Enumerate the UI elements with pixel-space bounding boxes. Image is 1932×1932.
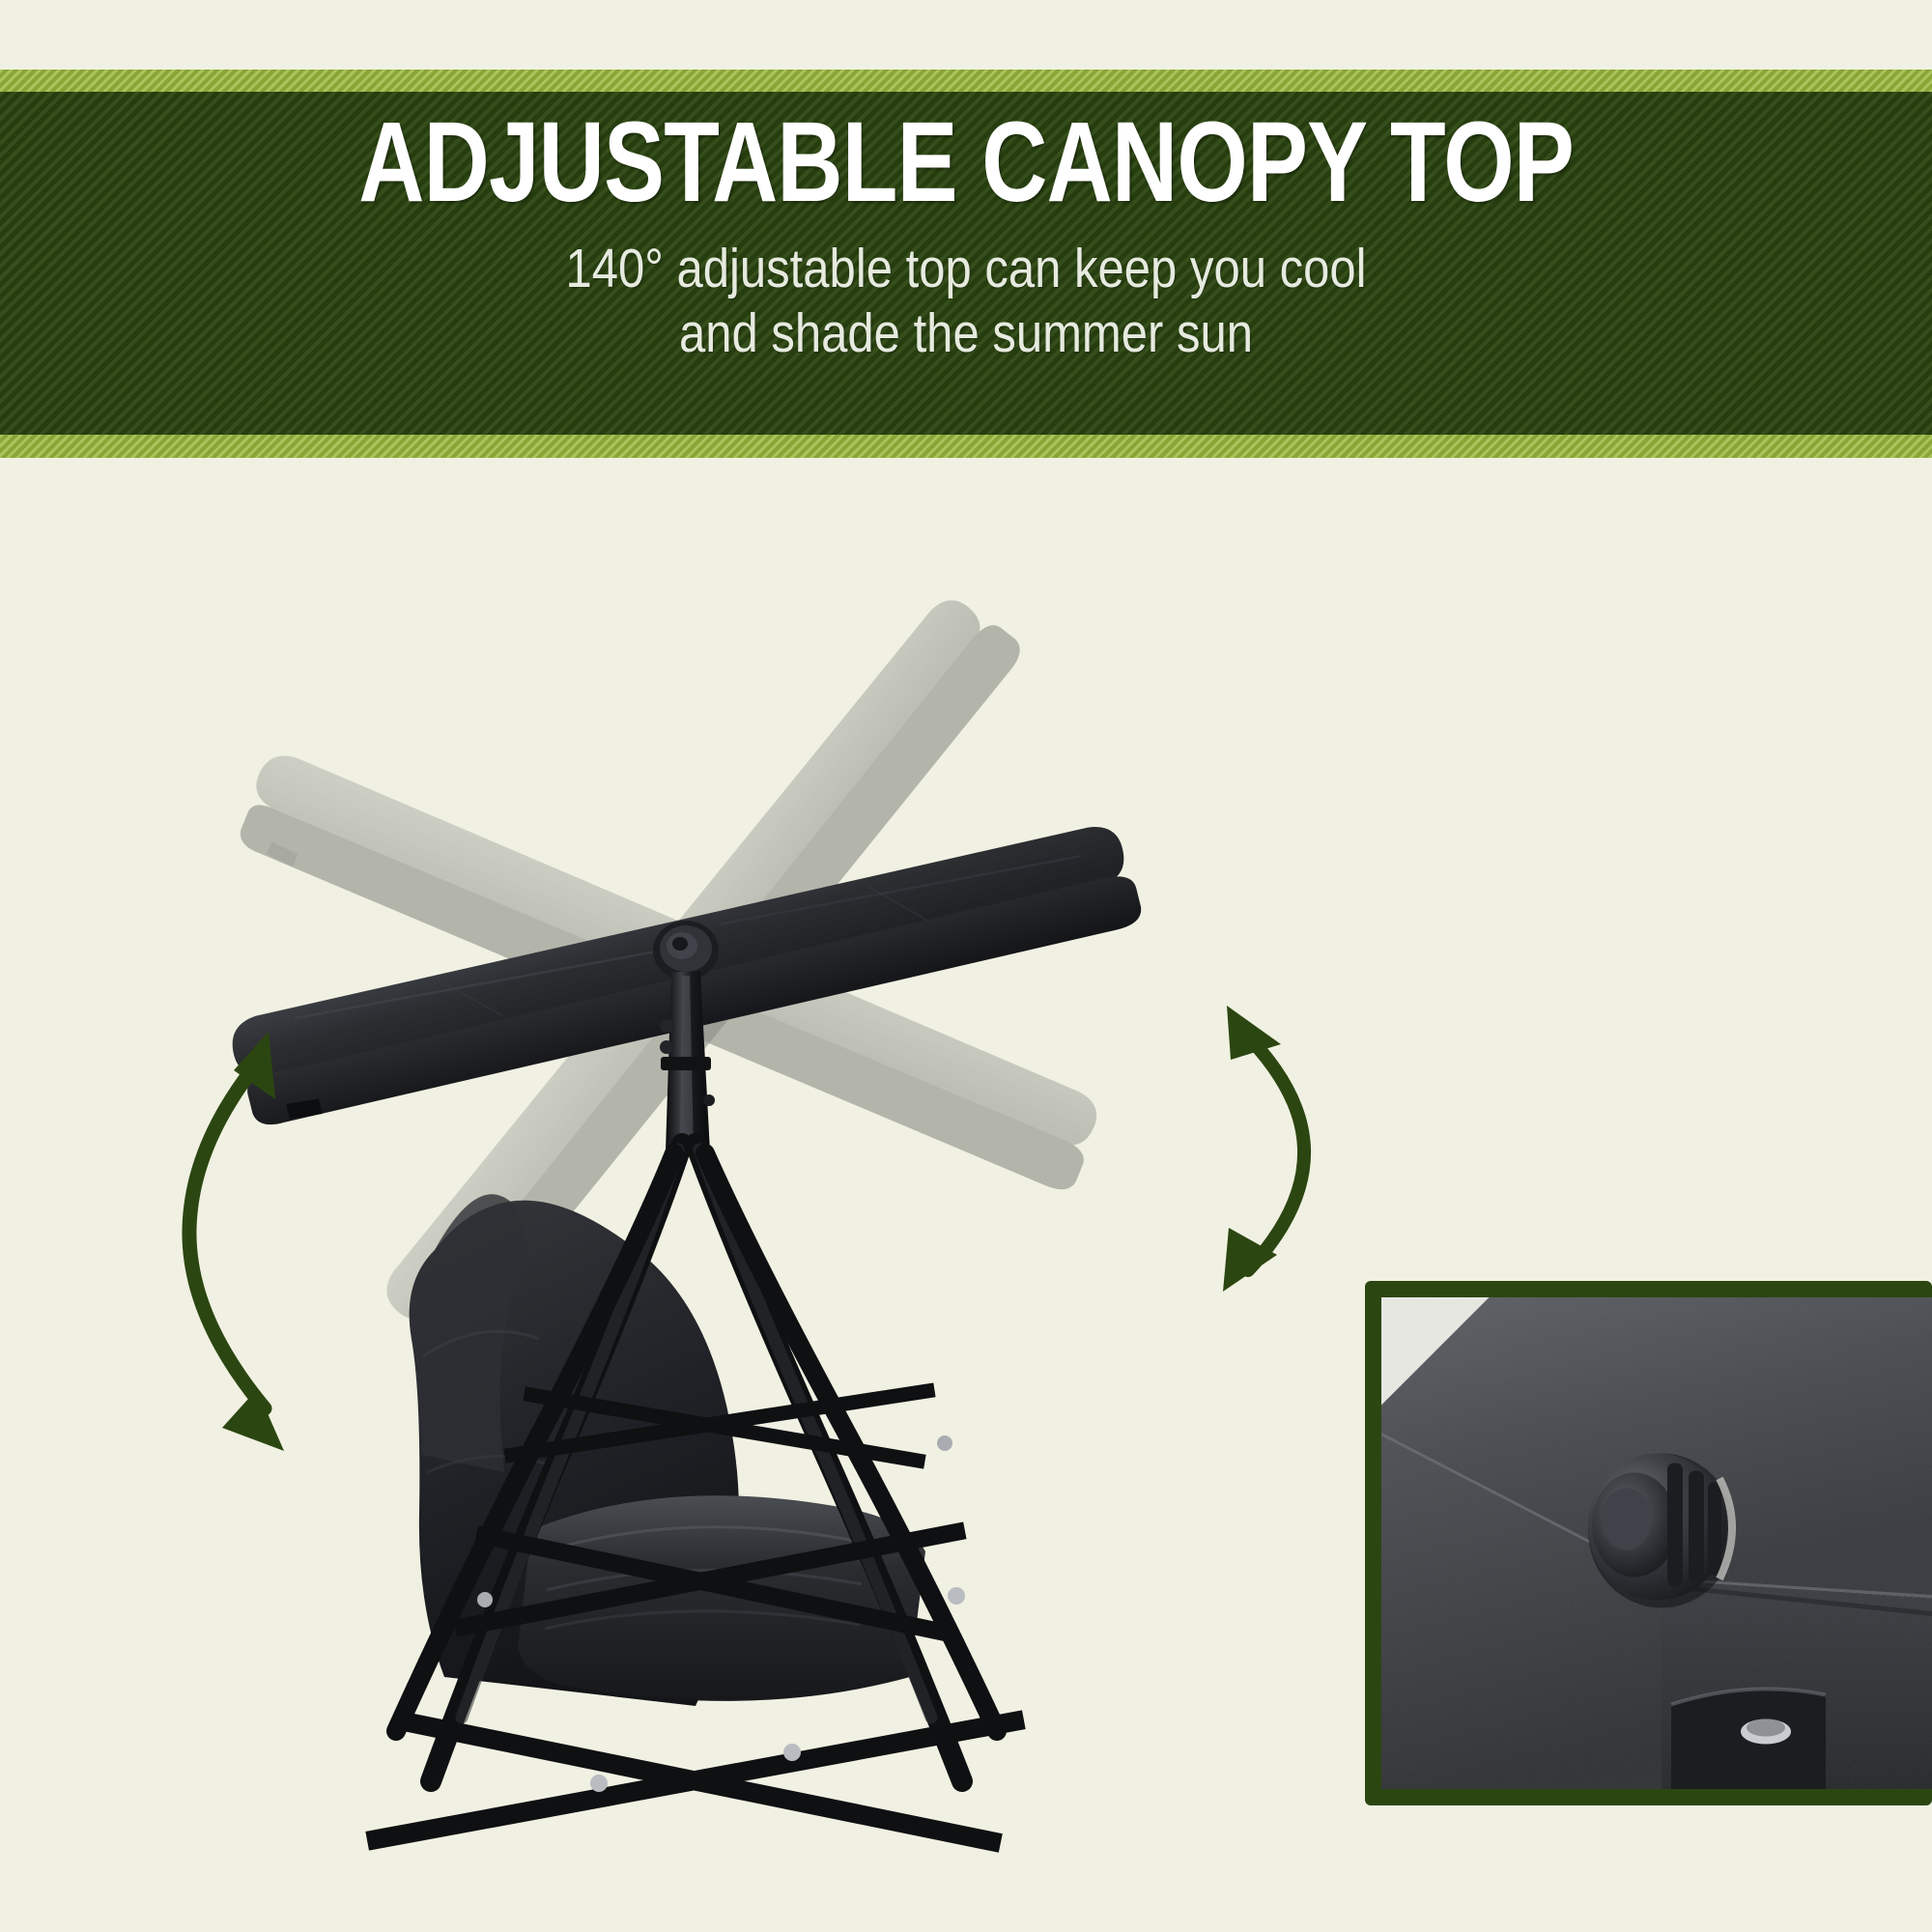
rotation-range-arrow-left-icon	[145, 980, 338, 1482]
subtitle: 140° adjustable top can keep you cool an…	[565, 237, 1366, 367]
rotation-range-arrow-right-icon	[1188, 984, 1381, 1313]
detail-inset-frame	[1365, 1281, 1932, 1805]
grommet-snap-icon	[1671, 1689, 1826, 1789]
subtitle-line-1: 140° adjustable top can keep you cool	[565, 237, 1366, 301]
banner-stripe-top	[0, 70, 1932, 93]
subtitle-line-2: and shade the summer sun	[565, 301, 1366, 366]
product-feature-image: ADJUSTABLE CANOPY TOP 140° adjustable to…	[0, 0, 1932, 1932]
canopy-pivot-knob	[653, 921, 719, 980]
adjustment-knob-icon	[1588, 1454, 1735, 1608]
detail-inset-photo	[1381, 1297, 1932, 1789]
headline: ADJUSTABLE CANOPY TOP	[358, 105, 1574, 219]
product-scene	[0, 458, 1932, 1932]
